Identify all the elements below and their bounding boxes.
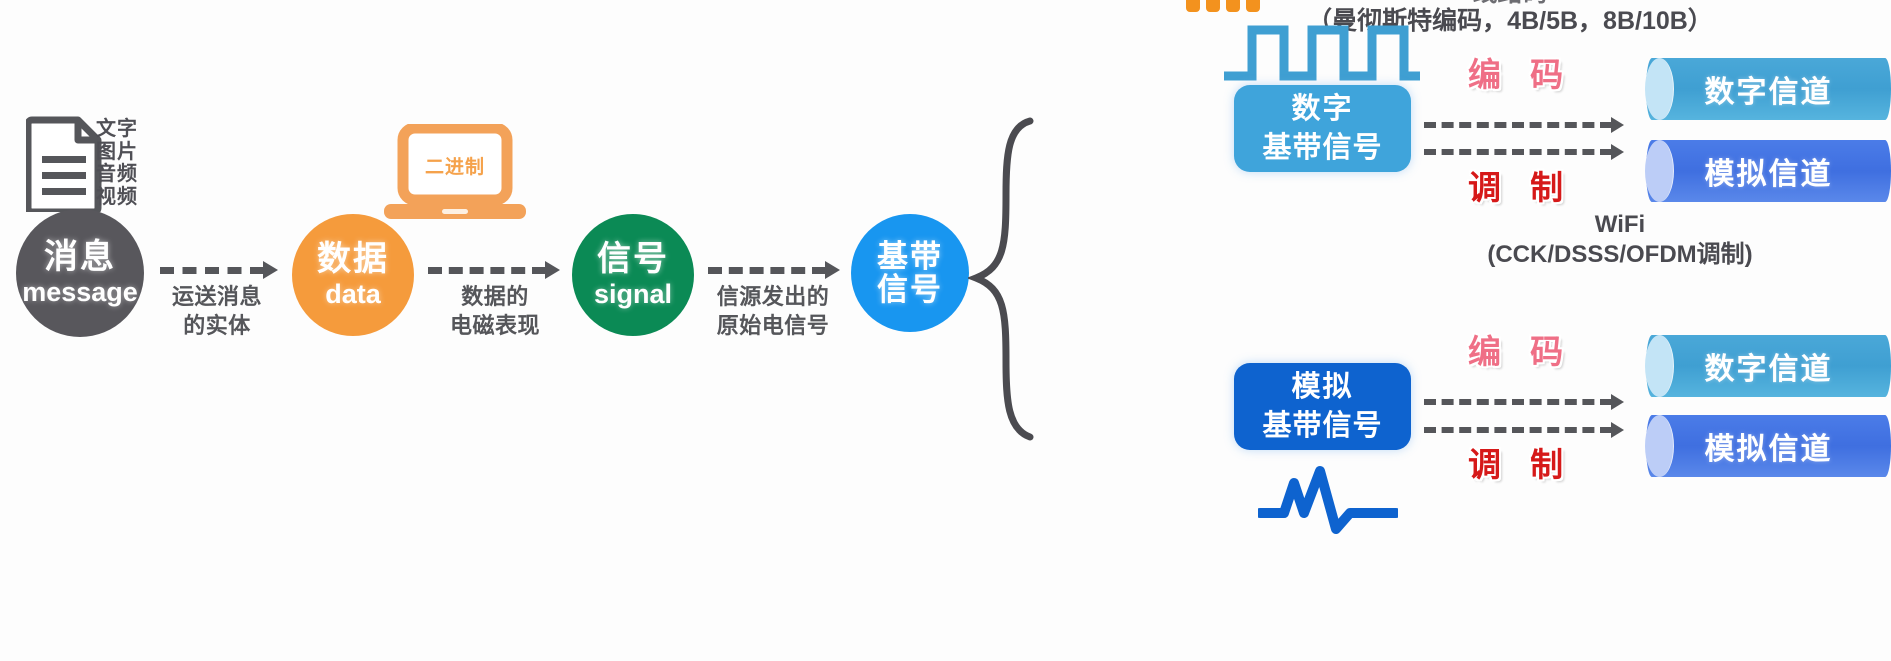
branch-brace-icon	[968, 115, 1038, 445]
caption-line-1: 数据的	[420, 282, 570, 311]
stamp-encode-digital: 编 码	[1468, 48, 1573, 96]
stamp-modulate-digital: 调 制	[1468, 161, 1573, 209]
node-baseband[interactable]: 基带 信号	[851, 214, 969, 332]
arrow-head-icon	[1611, 394, 1624, 410]
diagram-canvas: 文字 图片 音频 视频 消息 message 数据 data 信号 signal…	[0, 0, 1891, 661]
box-analog-line-2: 基带信号	[1262, 409, 1382, 444]
node-message-en: message	[22, 278, 138, 307]
arrow-message-to-data	[160, 264, 278, 276]
node-signal-cn: 信号	[597, 241, 669, 278]
channel-label: 模拟信道	[1705, 149, 1833, 193]
caption-data-to-signal: 数据的 电磁表现	[420, 282, 570, 340]
channel-digital-bottom[interactable]: 数字信道	[1646, 335, 1891, 397]
arrow-analog-encode	[1424, 396, 1624, 408]
arrow-line	[1424, 149, 1612, 155]
box-digital-baseband[interactable]: 数字 基带信号	[1234, 85, 1411, 172]
caption-signal-to-baseband: 信源发出的 原始电信号	[687, 282, 859, 340]
node-data-cn: 数据	[317, 241, 389, 278]
arrow-head-icon	[1611, 117, 1624, 133]
analog-wave-icon	[1258, 465, 1398, 535]
note-wifi-detail: (CCK/DSSS/OFDM调制)	[1420, 240, 1820, 270]
stamp-modulate-analog: 调 制	[1468, 438, 1573, 486]
square-wave-icon	[1222, 22, 1422, 84]
media-type-item: 音频	[96, 163, 138, 186]
arrow-digital-modulate	[1424, 146, 1624, 158]
arrow-line	[1424, 427, 1612, 433]
node-message-cn: 消息	[44, 239, 116, 276]
channel-analog-top[interactable]: 模拟信道	[1646, 140, 1891, 202]
node-baseband-cn2: 信号	[877, 273, 943, 306]
arrow-line	[708, 267, 826, 274]
box-analog-line-1: 模拟	[1291, 370, 1353, 405]
box-analog-baseband[interactable]: 模拟 基带信号	[1234, 363, 1411, 450]
arrow-digital-encode	[1424, 119, 1624, 131]
arrow-analog-modulate	[1424, 424, 1624, 436]
arrow-signal-to-baseband	[708, 264, 840, 276]
node-signal-en: signal	[594, 280, 672, 309]
channel-label: 数字信道	[1705, 344, 1833, 388]
document-icon	[26, 116, 104, 217]
arrow-head-icon	[1611, 144, 1624, 160]
arrow-head-icon	[1611, 422, 1624, 438]
channel-analog-bottom[interactable]: 模拟信道	[1646, 415, 1891, 477]
caption-line-2: 电磁表现	[420, 311, 570, 340]
stamp-encode-analog: 编 码	[1468, 325, 1573, 373]
arrow-line	[1424, 399, 1612, 405]
laptop-icon: 二进制	[382, 124, 528, 228]
box-digital-line-1: 数字	[1291, 92, 1353, 127]
node-data-en: data	[325, 280, 381, 309]
media-type-item: 文字	[96, 118, 138, 141]
caption-message-to-data: 运送消息 的实体	[142, 282, 292, 340]
caption-line-2: 的实体	[142, 311, 292, 340]
node-baseband-cn: 基带	[877, 240, 943, 273]
arrow-line	[428, 267, 546, 274]
arrow-data-to-signal	[428, 264, 560, 276]
arrow-line	[1424, 122, 1612, 128]
media-type-item: 视频	[96, 186, 138, 209]
caption-line-1: 运送消息	[142, 282, 292, 311]
media-type-item: 图片	[96, 141, 138, 164]
arrow-head-icon	[545, 261, 560, 279]
caption-line-2: 原始电信号	[687, 311, 859, 340]
channel-digital-top[interactable]: 数字信道	[1646, 58, 1891, 120]
note-wifi-title: WiFi	[1450, 210, 1790, 240]
node-message[interactable]: 消息 message	[16, 209, 144, 337]
arrow-head-icon	[825, 261, 840, 279]
arrow-line	[160, 267, 264, 274]
media-type-list: 文字 图片 音频 视频	[96, 118, 138, 208]
laptop-screen-label: 二进制	[382, 152, 528, 179]
node-data[interactable]: 数据 data	[292, 214, 414, 336]
arrow-head-icon	[263, 261, 278, 279]
node-signal[interactable]: 信号 signal	[572, 214, 694, 336]
channel-label: 数字信道	[1705, 67, 1833, 111]
channel-label: 模拟信道	[1705, 424, 1833, 468]
box-digital-line-2: 基带信号	[1262, 131, 1382, 166]
caption-line-1: 信源发出的	[687, 282, 859, 311]
